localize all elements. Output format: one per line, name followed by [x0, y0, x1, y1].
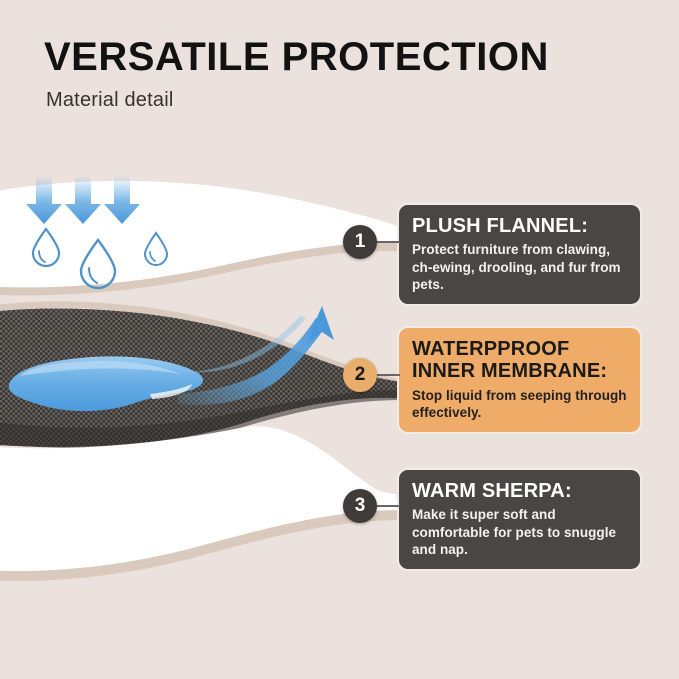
number-badge-1[interactable]: 1 — [343, 225, 377, 259]
leader-line-1 — [375, 241, 400, 243]
callout-waterproof-membrane[interactable]: WATERPPROOF INNER MEMBRANE: Stop liquid … — [397, 326, 642, 434]
callout-body-1: Protect furniture from clawing, ch-ewing… — [412, 241, 627, 293]
callout-body-2: Stop liquid from seeping through effecti… — [412, 387, 627, 422]
callout-heading-1: PLUSH FLANNEL: — [412, 215, 627, 237]
leader-line-2 — [375, 374, 400, 376]
number-badge-3[interactable]: 3 — [343, 489, 377, 523]
leader-line-3 — [375, 505, 400, 507]
number-badge-2[interactable]: 2 — [343, 358, 377, 392]
callout-plush-flannel[interactable]: PLUSH FLANNEL: Protect furniture from cl… — [397, 203, 642, 306]
callout-heading-2: WATERPPROOF INNER MEMBRANE: — [412, 338, 627, 383]
callout-warm-sherpa[interactable]: WARM SHERPA: Make it super soft and comf… — [397, 468, 642, 571]
callout-body-3: Make it super soft and comfortable for p… — [412, 506, 627, 558]
water-down-arrows — [26, 176, 140, 224]
infographic-canvas: VERSATILE PROTECTION Material detail — [0, 0, 679, 679]
callout-heading-3: WARM SHERPA: — [412, 480, 627, 502]
